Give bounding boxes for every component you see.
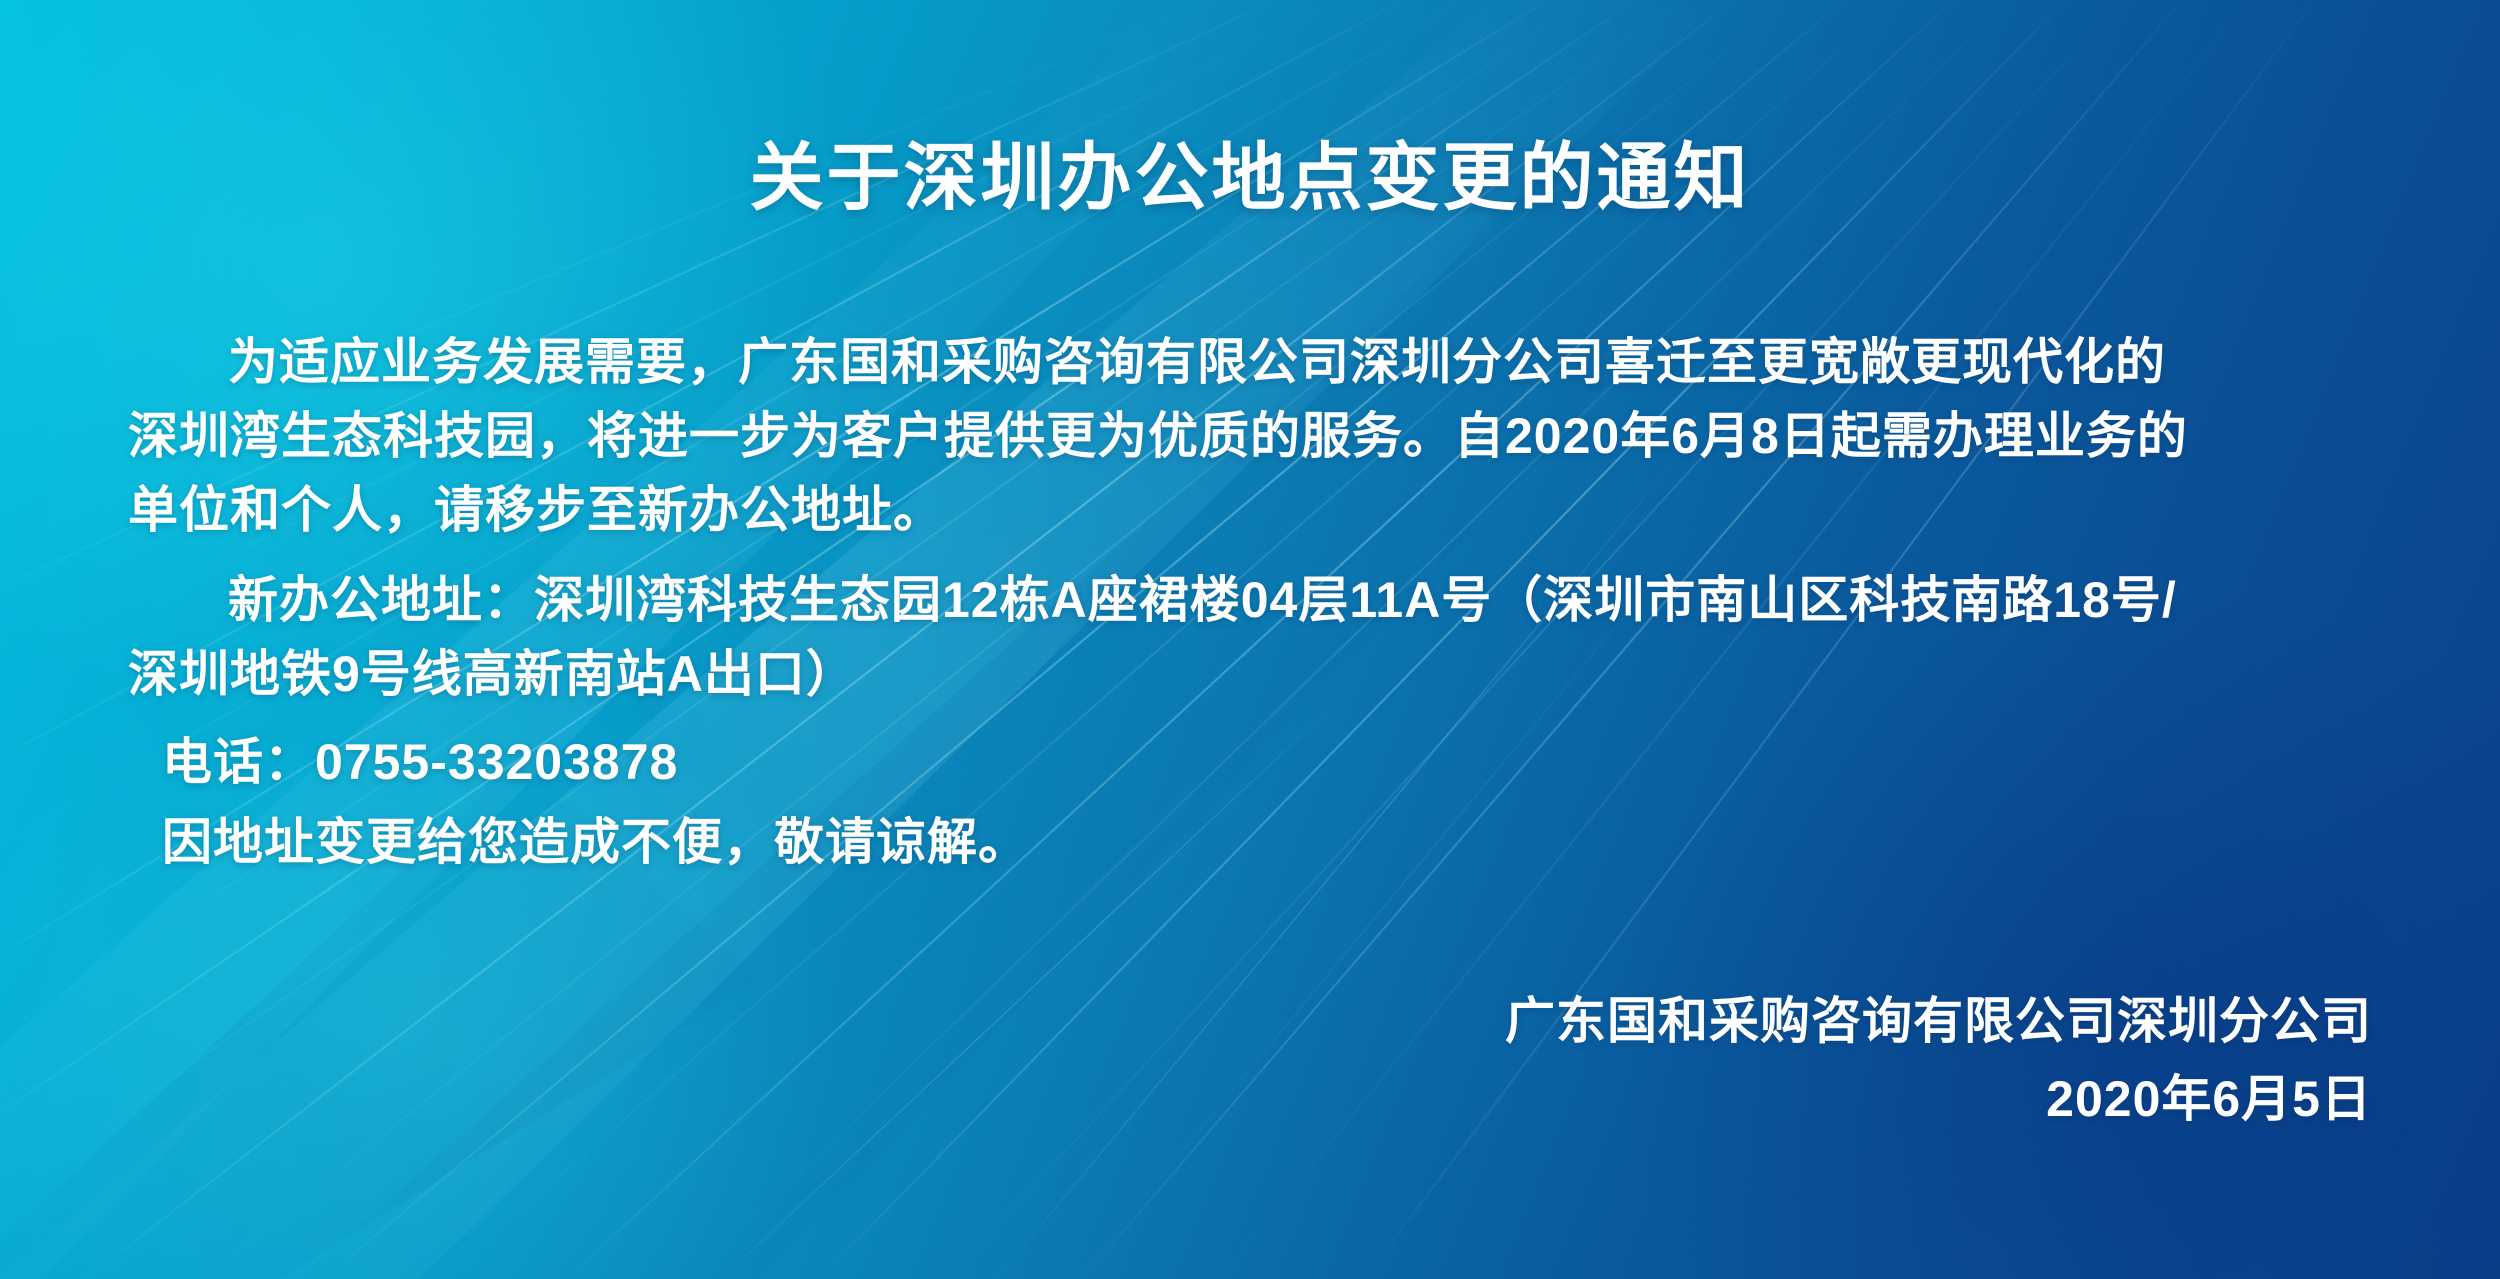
signature-block: 广东国和采购咨询有限公司深圳分公司 2020年6月5日 — [1505, 982, 2372, 1138]
new-address-line-2: 深圳地铁9号线高新南站A出口） — [128, 637, 2388, 711]
intro-paragraph-line-3: 单位和个人，请移步至新办公地址。 — [128, 473, 2388, 547]
phone-line: 电话：0755-33203878 — [128, 725, 2388, 799]
notice-content: 关于深圳办公地点变更的通知 为适应业务发展需要，广东国和采购咨询有限公司深圳分公… — [0, 0, 2500, 1279]
intro-paragraph-line-1: 为适应业务发展需要，广东国和采购咨询有限公司深圳分公司喜迁至更宽敞更现代化的 — [128, 325, 2388, 399]
page-title: 关于深圳办公地点变更的通知 — [0, 118, 2500, 225]
signature-company: 广东国和采购咨询有限公司深圳分公司 — [1505, 982, 2372, 1060]
notice-poster: 关于深圳办公地点变更的通知 为适应业务发展需要，广东国和采购咨询有限公司深圳分公… — [0, 0, 2500, 1279]
notice-body: 为适应业务发展需要，广东国和采购咨询有限公司深圳分公司喜迁至更宽敞更现代化的 深… — [128, 325, 2388, 879]
signature-date: 2020年6月5日 — [1505, 1060, 2372, 1138]
new-address-line-1: 新办公地址：深圳湾科技生态园12栋A座裙楼04层11A号（深圳市南山区科技南路1… — [128, 563, 2388, 637]
apology-line: 因地址变更给您造成不便，敬请谅解。 — [128, 805, 2388, 879]
intro-paragraph-line-2: 深圳湾生态科技园，将进一步为客户提供更为优质的服务。自2020年6月8日起需办理… — [128, 399, 2388, 473]
